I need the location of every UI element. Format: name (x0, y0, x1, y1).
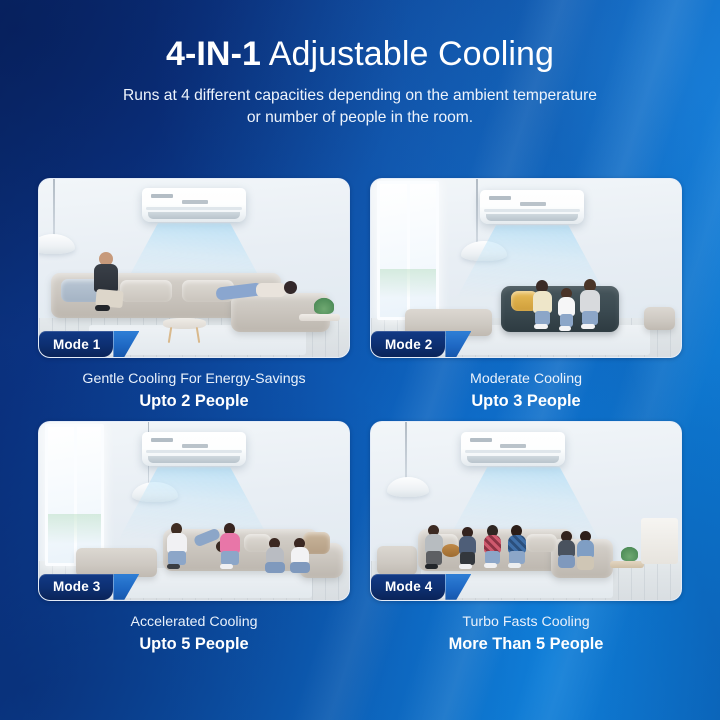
page-subtitle-line-2: or number of people in the room. (0, 107, 720, 129)
person (458, 527, 479, 571)
window (377, 181, 439, 320)
person-shoes (459, 564, 472, 569)
mode-badge-tail (445, 574, 471, 600)
person (532, 280, 554, 330)
person-legs (265, 562, 285, 573)
ottoman (76, 548, 157, 576)
person (265, 538, 287, 578)
person-legs (582, 311, 598, 325)
person-shoes (534, 324, 548, 329)
ac-brand-mark (520, 202, 546, 206)
person (576, 531, 597, 575)
page-title-bold: 4-IN-1 (166, 35, 261, 73)
person-head (284, 281, 297, 294)
ac-brand-mark (500, 444, 526, 448)
mode-badge-label: Mode 2 (371, 331, 445, 357)
air-conditioner-unit (480, 190, 584, 224)
mode-caption-capacity: Upto 5 People (38, 634, 350, 655)
mode-card-4[interactable]: Mode 4 (370, 421, 682, 601)
person (166, 523, 190, 571)
mode-badge-3: Mode 3 (39, 574, 139, 600)
mode-caption-2: Moderate Cooling Upto 3 People (370, 358, 682, 413)
mode-caption-title: Accelerated Cooling (38, 613, 350, 631)
person (290, 538, 312, 578)
person-torso (94, 264, 118, 292)
mode-cell-3: Mode 3 Accelerated Cooling Upto 5 People (38, 421, 350, 656)
window (45, 424, 104, 566)
person-torso (167, 533, 187, 553)
mode-badge-1: Mode 1 (39, 331, 139, 357)
mode-caption-title: Moderate Cooling (370, 370, 682, 388)
person-torso (580, 290, 600, 313)
person (507, 525, 529, 571)
page-subtitle-line-1: Runs at 4 different capacities depending… (0, 85, 720, 107)
mode-badge-4: Mode 4 (371, 574, 471, 600)
mode-badge-tail (445, 331, 471, 357)
corner-seat (644, 307, 675, 330)
person (557, 288, 577, 332)
page-subtitle: Runs at 4 different capacities depending… (0, 85, 720, 129)
mode-cell-1: Mode 1 Gentle Cooling For Energy-Savings… (38, 178, 350, 413)
person-legs (558, 555, 575, 568)
promo-page: 4-IN-1 Adjustable Cooling Runs at 4 diff… (0, 0, 720, 720)
mode-grid: Mode 1 Gentle Cooling For Energy-Savings… (38, 178, 682, 656)
side-table (610, 561, 644, 568)
person-shoes (167, 564, 180, 569)
mode-cell-4: Mode 4 Turbo Fasts Cooling More Than 5 P… (370, 421, 682, 656)
person-torso (256, 283, 286, 297)
person-shoes (95, 305, 110, 311)
page-title: 4-IN-1 Adjustable Cooling (0, 34, 720, 74)
person-shoes (559, 326, 571, 331)
mode-badge-label: Mode 3 (39, 574, 113, 600)
person-legs (577, 556, 594, 570)
mode-badge-label: Mode 1 (39, 331, 113, 357)
plant-icon (621, 546, 638, 561)
mode-caption-4: Turbo Fasts Cooling More Than 5 People (370, 601, 682, 656)
mode-card-3[interactable]: Mode 3 (38, 421, 350, 601)
mode-caption-1: Gentle Cooling For Energy-Savings Upto 2… (38, 358, 350, 413)
person-legs (535, 311, 550, 325)
air-conditioner-unit (461, 432, 565, 466)
framed-art (641, 518, 678, 564)
mode-caption-capacity: Upto 3 People (370, 391, 682, 412)
sofa-cushion (120, 280, 173, 301)
person (219, 523, 243, 571)
ac-logo (489, 196, 511, 200)
sofa-cushion (526, 534, 557, 552)
ac-brand-mark (182, 444, 208, 448)
mode-badge-tail (113, 574, 139, 600)
mode-badge-2: Mode 2 (371, 331, 471, 357)
person-legs (290, 562, 310, 573)
lamp-cord (476, 179, 478, 243)
ac-logo (470, 438, 492, 442)
person (579, 279, 602, 330)
mode-caption-title: Turbo Fasts Cooling (370, 613, 682, 631)
person-shoes (581, 324, 595, 329)
person-shoes (508, 563, 521, 568)
person (216, 274, 302, 304)
page-title-rest: Adjustable Cooling (261, 35, 554, 73)
air-conditioner-unit (142, 188, 246, 222)
mode-caption-title: Gentle Cooling For Energy-Savings (38, 370, 350, 388)
ac-brand-mark (182, 200, 208, 204)
ottoman (377, 546, 417, 574)
mode-card-2[interactable]: Mode 2 (370, 178, 682, 358)
person-legs (168, 551, 186, 565)
person-legs (221, 551, 239, 565)
air-conditioner-unit (142, 432, 246, 466)
lamp-cord (53, 179, 55, 236)
ac-logo (151, 438, 173, 442)
person-legs (426, 551, 442, 565)
mode-caption-capacity: More Than 5 People (370, 634, 682, 655)
header: 4-IN-1 Adjustable Cooling Runs at 4 diff… (0, 0, 720, 129)
mode-card-1[interactable]: Mode 1 (38, 178, 350, 358)
person (483, 525, 504, 571)
plant-icon (314, 297, 334, 314)
person-torso (533, 291, 552, 313)
mode-cell-2: Mode 2 Moderate Cooling Upto 3 People (370, 178, 682, 413)
ac-logo (151, 194, 173, 198)
person-torso (220, 533, 240, 553)
mode-caption-3: Accelerated Cooling Upto 5 People (38, 601, 350, 656)
person-shoes (220, 564, 233, 569)
mode-badge-label: Mode 4 (371, 574, 445, 600)
pendant-lamp-icon (387, 477, 429, 497)
side-table (299, 314, 339, 321)
person-shoes (425, 564, 438, 569)
person (92, 252, 126, 314)
mode-badge-tail (113, 331, 139, 357)
person-shoes (484, 563, 497, 568)
mode-caption-capacity: Upto 2 People (38, 391, 350, 412)
lamp-cord (405, 422, 407, 479)
